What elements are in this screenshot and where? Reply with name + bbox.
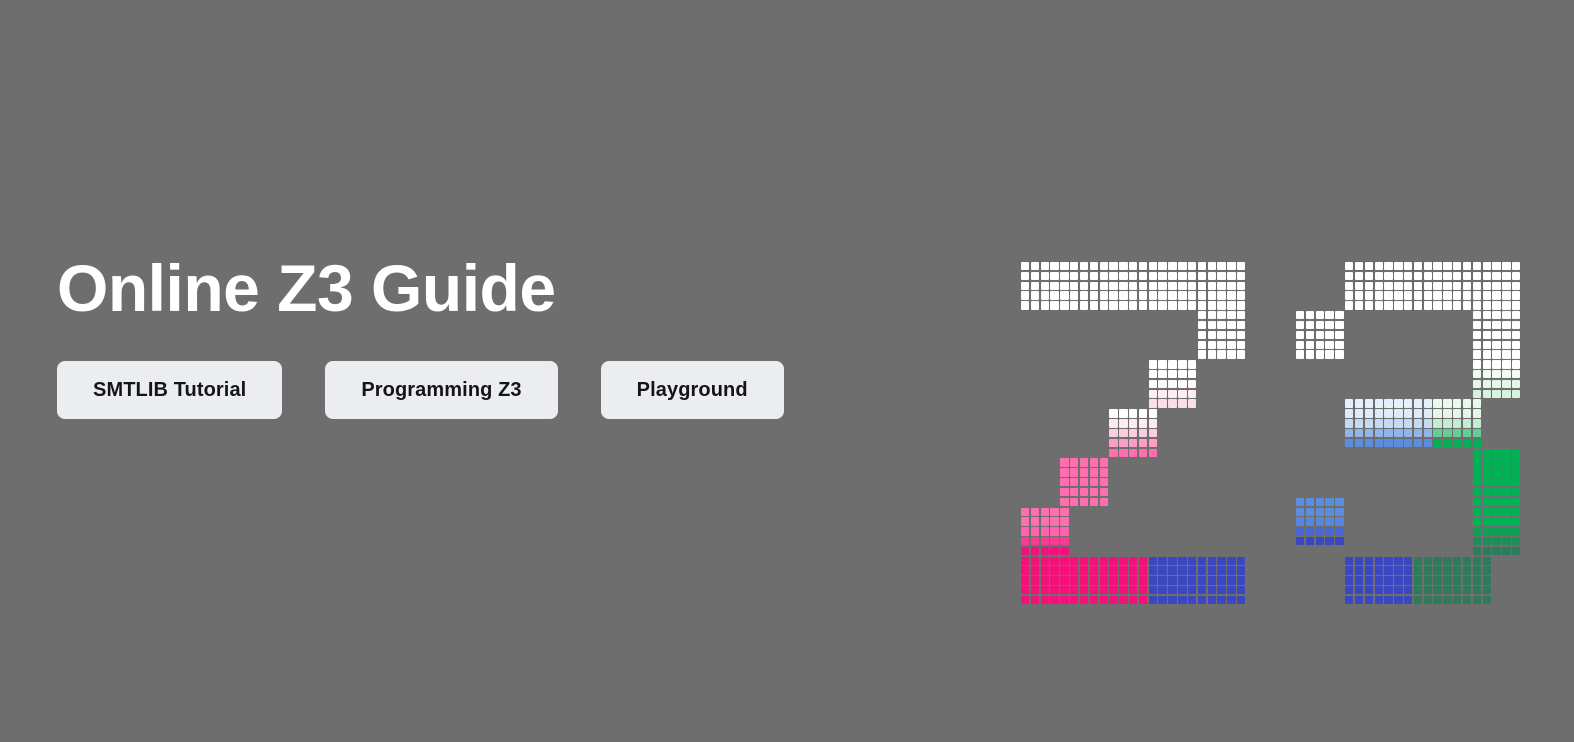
logo-pixel (1512, 488, 1520, 496)
logo-pixel (1296, 508, 1304, 516)
logo-pixel (1090, 566, 1098, 574)
logo-pixel (1070, 272, 1078, 280)
programming-z3-button[interactable]: Programming Z3 (325, 361, 557, 419)
logo-pixel (1237, 282, 1245, 290)
logo-pixel (1483, 586, 1491, 594)
logo-pixel (1208, 311, 1216, 319)
logo-pixel (1031, 262, 1039, 270)
logo-pixel (1168, 380, 1176, 388)
logo-pixel (1109, 282, 1117, 290)
logo-pixel (1355, 439, 1363, 447)
logo-pixel (1060, 508, 1068, 516)
logo-pixel (1198, 272, 1206, 280)
logo-pixel (1512, 282, 1520, 290)
logo-pixel (1443, 576, 1451, 584)
logo-pixel (1021, 566, 1029, 574)
logo-pixel (1483, 508, 1491, 516)
logo-pixel (1217, 557, 1225, 565)
logo-pixel (1168, 370, 1176, 378)
logo-pixel (1237, 311, 1245, 319)
logo-pixel (1050, 576, 1058, 584)
logo-pixel (1483, 468, 1491, 476)
logo-pixel (1178, 360, 1186, 368)
logo-pixel (1492, 360, 1500, 368)
logo-pixel (1149, 399, 1157, 407)
logo-pixel (1473, 517, 1481, 525)
logo-pixel (1365, 282, 1373, 290)
logo-pixel (1384, 282, 1392, 290)
logo-pixel (1433, 399, 1441, 407)
logo-pixel (1325, 527, 1333, 535)
logo-pixel (1158, 282, 1166, 290)
logo-pixel (1109, 439, 1117, 447)
logo-pixel (1355, 566, 1363, 574)
logo-pixel (1453, 282, 1461, 290)
logo-pixel (1188, 380, 1196, 388)
logo-pixel (1041, 586, 1049, 594)
logo-pixel (1070, 291, 1078, 299)
logo-pixel (1041, 508, 1049, 516)
logo-pixel (1473, 360, 1481, 368)
logo-pixel (1129, 282, 1137, 290)
logo-pixel (1060, 576, 1068, 584)
logo-pixel (1502, 341, 1510, 349)
logo-pixel (1139, 449, 1147, 457)
logo-pixel (1483, 449, 1491, 457)
logo-pixel (1492, 468, 1500, 476)
logo-pixel (1384, 262, 1392, 270)
logo-pixel (1345, 557, 1353, 565)
logo-pixel (1404, 419, 1412, 427)
logo-pixel (1041, 576, 1049, 584)
logo-pixel (1325, 517, 1333, 525)
logo-pixel (1483, 517, 1491, 525)
logo-pixel (1443, 301, 1451, 309)
logo-pixel (1365, 409, 1373, 417)
logo-pixel (1443, 291, 1451, 299)
logo-pixel (1296, 341, 1304, 349)
logo-pixel (1335, 517, 1343, 525)
logo-pixel (1060, 262, 1068, 270)
logo-pixel (1492, 458, 1500, 466)
logo-pixel (1424, 291, 1432, 299)
logo-pixel (1473, 272, 1481, 280)
logo-pixel (1149, 360, 1157, 368)
logo-pixel (1424, 596, 1432, 604)
logo-pixel (1139, 557, 1147, 565)
logo-pixel (1453, 399, 1461, 407)
logo-pixel (1463, 399, 1471, 407)
logo-pixel (1473, 370, 1481, 378)
logo-pixel (1080, 282, 1088, 290)
logo-pixel (1502, 508, 1510, 516)
logo-pixel (1325, 331, 1333, 339)
logo-pixel (1512, 547, 1520, 555)
logo-pixel (1483, 488, 1491, 496)
logo-pixel (1217, 350, 1225, 358)
logo-pixel (1237, 350, 1245, 358)
logo-pixel (1158, 390, 1166, 398)
logo-pixel (1031, 282, 1039, 290)
logo-pixel (1306, 527, 1314, 535)
logo-pixel (1492, 311, 1500, 319)
logo-pixel (1050, 566, 1058, 574)
logo-pixel (1463, 301, 1471, 309)
logo-pixel (1109, 262, 1117, 270)
logo-pixel (1433, 439, 1441, 447)
logo-pixel (1149, 439, 1157, 447)
logo-pixel (1512, 311, 1520, 319)
logo-pixel (1453, 557, 1461, 565)
logo-pixel (1060, 566, 1068, 574)
logo-pixel (1483, 301, 1491, 309)
logo-pixel (1325, 321, 1333, 329)
logo-pixel (1208, 350, 1216, 358)
logo-pixel (1483, 390, 1491, 398)
logo-pixel (1178, 301, 1186, 309)
logo-pixel (1316, 527, 1324, 535)
logo-pixel (1227, 350, 1235, 358)
logo-pixel (1149, 419, 1157, 427)
logo-pixel (1158, 262, 1166, 270)
logo-pixel (1129, 301, 1137, 309)
logo-pixel (1208, 291, 1216, 299)
logo-pixel (1424, 439, 1432, 447)
logo-pixel (1041, 547, 1049, 555)
logo-pixel (1237, 557, 1245, 565)
logo-pixel (1473, 399, 1481, 407)
logo-pixel (1041, 537, 1049, 545)
logo-pixel (1021, 272, 1029, 280)
logo-pixel (1375, 282, 1383, 290)
logo-pixel (1188, 301, 1196, 309)
logo-pixel (1237, 586, 1245, 594)
logo-pixel (1158, 272, 1166, 280)
logo-pixel (1453, 586, 1461, 594)
logo-pixel (1149, 390, 1157, 398)
logo-pixel (1070, 262, 1078, 270)
logo-pixel (1404, 429, 1412, 437)
hero-section: Online Z3 Guide SMTLIB Tutorial Programm… (0, 0, 1574, 742)
logo-pixel (1492, 390, 1500, 398)
logo-pixel (1473, 380, 1481, 388)
logo-pixel (1473, 586, 1481, 594)
logo-pixel (1090, 262, 1098, 270)
logo-pixel (1512, 291, 1520, 299)
logo-pixel (1217, 341, 1225, 349)
logo-pixel (1090, 557, 1098, 565)
logo-pixel (1394, 596, 1402, 604)
logo-pixel (1060, 488, 1068, 496)
logo-pixel (1345, 586, 1353, 594)
logo-pixel (1227, 272, 1235, 280)
logo-pixel (1375, 586, 1383, 594)
logo-pixel (1453, 429, 1461, 437)
logo-pixel (1512, 272, 1520, 280)
logo-pixel (1050, 291, 1058, 299)
logo-pixel (1512, 262, 1520, 270)
logo-pixel (1365, 566, 1373, 574)
logo-pixel (1090, 282, 1098, 290)
logo-pixel (1208, 586, 1216, 594)
logo-pixel (1208, 262, 1216, 270)
logo-pixel (1414, 409, 1422, 417)
logo-pixel (1325, 350, 1333, 358)
logo-pixel (1149, 586, 1157, 594)
logo-pixel (1149, 291, 1157, 299)
logo-pixel (1502, 458, 1510, 466)
logo-pixel (1512, 301, 1520, 309)
logo-pixel (1080, 576, 1088, 584)
logo-pixel (1424, 409, 1432, 417)
logo-pixel (1060, 537, 1068, 545)
logo-pixel (1365, 576, 1373, 584)
logo-pixel (1168, 390, 1176, 398)
logo-pixel (1198, 262, 1206, 270)
logo-pixel (1129, 439, 1137, 447)
logo-pixel (1453, 272, 1461, 280)
logo-pixel (1296, 311, 1304, 319)
logo-pixel (1453, 439, 1461, 447)
logo-pixel (1473, 576, 1481, 584)
logo-pixel (1168, 272, 1176, 280)
logo-pixel (1168, 262, 1176, 270)
logo-pixel (1208, 321, 1216, 329)
logo-pixel (1060, 458, 1068, 466)
logo-pixel (1335, 537, 1343, 545)
logo-pixel (1149, 301, 1157, 309)
logo-pixel (1394, 409, 1402, 417)
logo-pixel (1158, 301, 1166, 309)
logo-pixel (1355, 596, 1363, 604)
logo-pixel (1100, 272, 1108, 280)
smtlib-tutorial-button[interactable]: SMTLIB Tutorial (57, 361, 282, 419)
logo-pixel (1100, 566, 1108, 574)
logo-pixel (1031, 547, 1039, 555)
logo-pixel (1483, 527, 1491, 535)
logo-pixel (1365, 301, 1373, 309)
logo-pixel (1365, 399, 1373, 407)
logo-pixel (1384, 596, 1392, 604)
logo-pixel (1424, 429, 1432, 437)
logo-pixel (1227, 301, 1235, 309)
logo-pixel (1483, 321, 1491, 329)
logo-pixel (1109, 596, 1117, 604)
logo-pixel (1463, 576, 1471, 584)
logo-pixel (1188, 576, 1196, 584)
logo-pixel (1473, 350, 1481, 358)
z3-pixel-logo (1021, 262, 1521, 584)
logo-pixel (1031, 301, 1039, 309)
logo-pixel (1483, 596, 1491, 604)
logo-pixel (1237, 596, 1245, 604)
logo-pixel (1188, 596, 1196, 604)
logo-pixel (1375, 576, 1383, 584)
logo-pixel (1325, 341, 1333, 349)
logo-pixel (1394, 586, 1402, 594)
logo-pixel (1296, 527, 1304, 535)
logo-pixel (1149, 429, 1157, 437)
logo-pixel (1443, 439, 1451, 447)
logo-pixel (1149, 449, 1157, 457)
logo-pixel (1296, 331, 1304, 339)
logo-pixel (1178, 586, 1186, 594)
logo-pixel (1483, 370, 1491, 378)
logo-pixel (1080, 498, 1088, 506)
logo-pixel (1473, 390, 1481, 398)
logo-pixel (1512, 390, 1520, 398)
logo-pixel (1375, 439, 1383, 447)
logo-pixel (1109, 419, 1117, 427)
logo-pixel (1375, 596, 1383, 604)
logo-pixel (1227, 557, 1235, 565)
logo-pixel (1129, 596, 1137, 604)
logo-pixel (1433, 576, 1441, 584)
logo-pixel (1433, 262, 1441, 270)
logo-pixel (1443, 399, 1451, 407)
logo-pixel (1090, 272, 1098, 280)
logo-pixel (1502, 547, 1510, 555)
logo-pixel (1129, 586, 1137, 594)
logo-pixel (1080, 596, 1088, 604)
logo-pixel (1345, 576, 1353, 584)
logo-pixel (1227, 596, 1235, 604)
logo-pixel (1208, 566, 1216, 574)
logo-pixel (1355, 282, 1363, 290)
logo-pixel (1119, 576, 1127, 584)
logo-pixel (1178, 282, 1186, 290)
logo-pixel (1070, 478, 1078, 486)
logo-pixel (1178, 596, 1186, 604)
logo-pixel (1473, 478, 1481, 486)
logo-pixel (1463, 262, 1471, 270)
logo-pixel (1365, 557, 1373, 565)
logo-pixel (1473, 498, 1481, 506)
logo-pixel (1188, 282, 1196, 290)
logo-pixel (1070, 301, 1078, 309)
logo-pixel (1050, 508, 1058, 516)
logo-pixel (1365, 291, 1373, 299)
logo-pixel (1237, 331, 1245, 339)
logo-pixel (1394, 301, 1402, 309)
logo-pixel (1502, 488, 1510, 496)
logo-pixel (1149, 370, 1157, 378)
logo-pixel (1384, 439, 1392, 447)
logo-pixel (1414, 262, 1422, 270)
logo-pixel (1119, 566, 1127, 574)
logo-pixel (1502, 390, 1510, 398)
logo-pixel (1060, 547, 1068, 555)
logo-pixel (1473, 311, 1481, 319)
logo-pixel (1119, 586, 1127, 594)
logo-pixel (1139, 566, 1147, 574)
logo-pixel (1198, 311, 1206, 319)
logo-pixel (1502, 527, 1510, 535)
logo-pixel (1394, 282, 1402, 290)
logo-pixel (1119, 439, 1127, 447)
logo-pixel (1306, 517, 1314, 525)
logo-pixel (1129, 272, 1137, 280)
logo-pixel (1473, 439, 1481, 447)
logo-pixel (1090, 458, 1098, 466)
logo-pixel (1492, 380, 1500, 388)
logo-pixel (1443, 566, 1451, 574)
logo-pixel (1188, 390, 1196, 398)
logo-pixel (1188, 586, 1196, 594)
logo-pixel (1021, 586, 1029, 594)
logo-pixel (1100, 291, 1108, 299)
logo-pixel (1158, 557, 1166, 565)
logo-pixel (1227, 576, 1235, 584)
logo-pixel (1100, 557, 1108, 565)
logo-pixel (1217, 301, 1225, 309)
logo-pixel (1404, 291, 1412, 299)
logo-pixel (1158, 380, 1166, 388)
logo-pixel (1512, 517, 1520, 525)
logo-pixel (1168, 557, 1176, 565)
logo-pixel (1512, 331, 1520, 339)
logo-pixel (1237, 301, 1245, 309)
logo-pixel (1473, 468, 1481, 476)
logo-pixel (1158, 576, 1166, 584)
playground-button[interactable]: Playground (601, 361, 784, 419)
logo-pixel (1217, 311, 1225, 319)
logo-pixel (1335, 498, 1343, 506)
logo-pixel (1424, 576, 1432, 584)
logo-pixel (1414, 301, 1422, 309)
logo-pixel (1178, 399, 1186, 407)
logo-pixel (1139, 301, 1147, 309)
logo-pixel (1100, 498, 1108, 506)
hero-content: Online Z3 Guide SMTLIB Tutorial Programm… (57, 255, 957, 419)
logo-pixel (1512, 527, 1520, 535)
logo-pixel (1100, 468, 1108, 476)
logo-pixel (1502, 380, 1510, 388)
logo-pixel (1119, 301, 1127, 309)
logo-pixel (1463, 409, 1471, 417)
logo-pixel (1502, 537, 1510, 545)
logo-pixel (1384, 409, 1392, 417)
logo-pixel (1237, 272, 1245, 280)
logo-pixel (1031, 517, 1039, 525)
logo-pixel (1394, 272, 1402, 280)
logo-pixel (1512, 478, 1520, 486)
logo-pixel (1139, 439, 1147, 447)
logo-pixel (1041, 557, 1049, 565)
logo-pixel (1473, 458, 1481, 466)
logo-pixel (1355, 301, 1363, 309)
logo-pixel (1453, 596, 1461, 604)
logo-pixel (1306, 311, 1314, 319)
logo-pixel (1139, 576, 1147, 584)
logo-pixel (1483, 282, 1491, 290)
logo-pixel (1384, 566, 1392, 574)
logo-pixel (1109, 272, 1117, 280)
logo-pixel (1463, 419, 1471, 427)
logo-pixel (1188, 262, 1196, 270)
logo-pixel (1168, 576, 1176, 584)
logo-pixel (1492, 262, 1500, 270)
logo-pixel (1129, 429, 1137, 437)
logo-pixel (1394, 439, 1402, 447)
logo-pixel (1021, 508, 1029, 516)
logo-pixel (1404, 399, 1412, 407)
logo-pixel (1335, 321, 1343, 329)
logo-pixel (1355, 557, 1363, 565)
logo-pixel (1443, 586, 1451, 594)
logo-pixel (1512, 458, 1520, 466)
logo-pixel (1070, 488, 1078, 496)
